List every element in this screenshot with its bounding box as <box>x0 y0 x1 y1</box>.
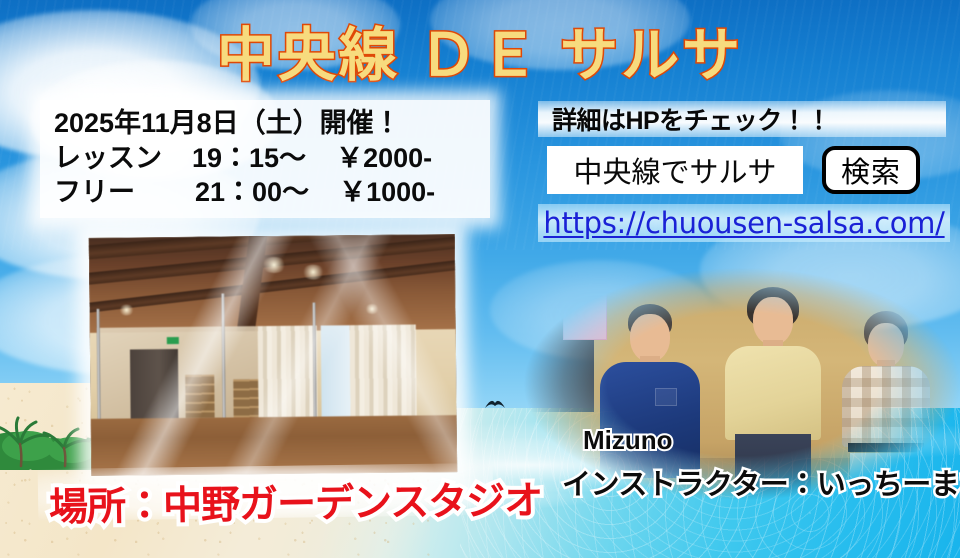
studio-curtain <box>350 325 417 426</box>
page-title: 中央線 ＤＥ サルサ <box>0 8 960 92</box>
website-url-band: https://chuousen-salsa.com/ <box>538 204 950 242</box>
studio-shelf <box>233 379 259 422</box>
studio-photo <box>89 234 457 476</box>
studio-curtain <box>320 326 350 426</box>
free-time: 21：00〜 <box>195 177 309 207</box>
torso-cream-shirt <box>725 346 821 440</box>
torso-checked-shirt <box>842 366 930 448</box>
search-row: 中央線でサルサ 検索 <box>547 146 920 194</box>
lesson-label: レッスン <box>54 143 162 173</box>
studio-floor <box>91 415 458 476</box>
search-button[interactable]: 検索 <box>822 146 920 194</box>
search-button-label: 検索 <box>841 149 901 191</box>
search-input[interactable]: 中央線でサルサ <box>547 146 803 194</box>
studio-curtain <box>258 326 318 427</box>
lesson-price: ￥2000- <box>336 143 432 173</box>
belt <box>848 443 924 452</box>
event-date-line: 2025年11月8日（土）開催！ <box>54 106 480 141</box>
head <box>753 297 793 345</box>
hp-check-text: 詳細はHPをチェック！！ <box>552 101 831 137</box>
event-info-panel: 2025年11月8日（土）開催！ レッスン19：15〜￥2000- フリー21：… <box>40 100 490 218</box>
instructor-names-label: インストラクター：いっちーまなみ <box>562 461 960 503</box>
ceiling-spotlight <box>301 264 325 279</box>
salsa-event-flyer: 中央線 ＤＥ サルサ 2025年11月8日（土）開催！ レッスン19：15〜￥2… <box>0 0 960 558</box>
free-row: フリー21：00〜￥1000- <box>54 175 480 210</box>
shirt-pocket <box>655 388 677 406</box>
free-price: ￥1000- <box>339 177 435 207</box>
ceiling-spotlight <box>364 304 379 314</box>
head <box>630 314 670 362</box>
lesson-row: レッスン19：15〜￥2000- <box>54 141 480 176</box>
search-input-value: 中央線でサルサ <box>573 149 776 191</box>
lesson-time: 19：15〜 <box>192 143 306 173</box>
hp-check-banner: 詳細はHPをチェック！！ <box>538 101 946 137</box>
studio-door <box>130 349 178 421</box>
free-label: フリー <box>54 177 135 207</box>
mizuno-name-label: Mizuno <box>583 425 673 456</box>
studio-shelf <box>185 375 215 418</box>
ceiling-spotlight <box>119 304 135 315</box>
venue-label: 場所：中野ガーデンスタジオ <box>49 470 543 533</box>
exit-sign-icon <box>167 337 179 344</box>
website-url-link[interactable]: https://chuousen-salsa.com/ <box>543 206 944 240</box>
